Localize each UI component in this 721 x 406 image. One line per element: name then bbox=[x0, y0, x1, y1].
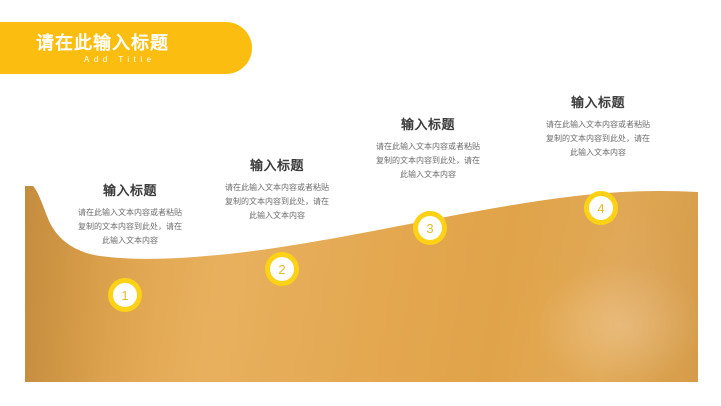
step-marker-1[interactable]: 1 bbox=[108, 278, 142, 312]
step-title-2: 输入标题 bbox=[207, 155, 347, 174]
step-body-line-3-2: 复制的文本内容到此处，请在 bbox=[358, 154, 498, 168]
step-marker-2[interactable]: 2 bbox=[265, 252, 299, 286]
step-body-line-4-1: 请在此输入文本内容或者粘贴 bbox=[528, 118, 668, 132]
step-title-4: 输入标题 bbox=[528, 92, 668, 111]
step-marker-number-1: 1 bbox=[121, 289, 128, 302]
step-body-line-2-3: 此输入文本内容 bbox=[207, 209, 347, 223]
step-title-1: 输入标题 bbox=[60, 180, 200, 199]
step-text-block-3: 输入标题 请在此输入文本内容或者粘贴 复制的文本内容到此处，请在 此输入文本内容 bbox=[358, 114, 498, 182]
step-body-line-1-2: 复制的文本内容到此处，请在 bbox=[60, 220, 200, 234]
step-text-block-4: 输入标题 请在此输入文本内容或者粘贴 复制的文本内容到此处，请在 此输入文本内容 bbox=[528, 92, 668, 160]
step-marker-number-2: 2 bbox=[278, 263, 285, 276]
slide-canvas: 请在此输入标题 Add Title 输入标题 请在此输入文本内容或者粘贴 复制的… bbox=[0, 0, 721, 406]
step-text-block-1: 输入标题 请在此输入文本内容或者粘贴 复制的文本内容到此处，请在 此输入文本内容 bbox=[60, 180, 200, 248]
step-body-line-1-1: 请在此输入文本内容或者粘贴 bbox=[60, 206, 200, 220]
step-marker-number-4: 4 bbox=[597, 202, 604, 215]
page-title: 请在此输入标题 bbox=[36, 29, 169, 55]
step-marker-3[interactable]: 3 bbox=[413, 211, 447, 245]
step-marker-4[interactable]: 4 bbox=[584, 191, 618, 225]
step-text-block-2: 输入标题 请在此输入文本内容或者粘贴 复制的文本内容到此处，请在 此输入文本内容 bbox=[207, 155, 347, 223]
step-body-line-4-3: 此输入文本内容 bbox=[528, 146, 668, 160]
step-title-3: 输入标题 bbox=[358, 114, 498, 133]
step-body-line-1-3: 此输入文本内容 bbox=[60, 234, 200, 248]
step-body-line-2-2: 复制的文本内容到此处，请在 bbox=[207, 195, 347, 209]
title-banner: 请在此输入标题 Add Title bbox=[0, 22, 252, 74]
step-marker-number-3: 3 bbox=[426, 222, 433, 235]
page-subtitle: Add Title bbox=[84, 55, 156, 64]
step-body-line-2-1: 请在此输入文本内容或者粘贴 bbox=[207, 181, 347, 195]
step-body-line-3-1: 请在此输入文本内容或者粘贴 bbox=[358, 140, 498, 154]
step-body-line-4-2: 复制的文本内容到此处，请在 bbox=[528, 132, 668, 146]
step-body-line-3-3: 此输入文本内容 bbox=[358, 168, 498, 182]
